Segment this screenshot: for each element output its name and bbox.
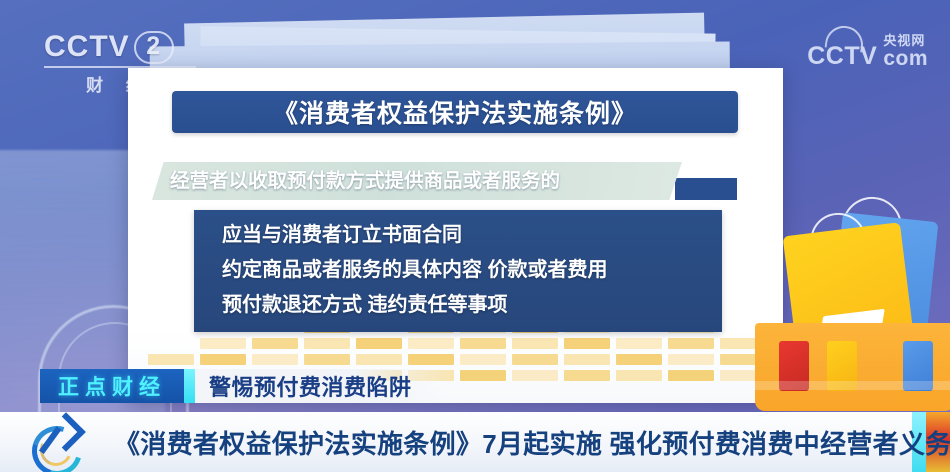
headline-text: 警惕预付费消费陷阱 bbox=[209, 370, 412, 402]
card-subtitle: 经营者以收取预付款方式提供商品或者服务的 bbox=[152, 162, 682, 200]
bar-pattern-block bbox=[304, 338, 350, 349]
bar-pattern-block bbox=[564, 338, 610, 349]
cctv-logo-mark: CCTV 2 bbox=[44, 30, 224, 64]
bar-pattern-block bbox=[512, 354, 558, 365]
bar-pattern-block bbox=[668, 370, 714, 381]
ticker-headline: 《消费者权益保护法实施条例》7月起实施 强化预付费消费中经营者义务 bbox=[114, 424, 950, 461]
card-title-banner: 《消费者权益保护法实施条例》 bbox=[172, 91, 738, 133]
bar-pattern-block bbox=[616, 338, 662, 349]
bar-pattern-block bbox=[408, 354, 454, 365]
watermark-cn-label: 央视网 bbox=[883, 34, 928, 48]
shopping-bags-graphic bbox=[765, 195, 950, 410]
subtitle-accent-tab bbox=[675, 178, 737, 200]
lower-third-banner: 正点财经 警惕预付费消费陷阱 bbox=[40, 369, 452, 403]
lower-third-cyan-divider bbox=[184, 369, 195, 403]
bar-pattern-block bbox=[460, 338, 506, 349]
bar-pattern-block bbox=[356, 354, 402, 365]
bar-pattern-block bbox=[460, 354, 506, 365]
card-subtitle-banner: 经营者以收取预付款方式提供商品或者服务的 bbox=[152, 162, 682, 200]
bar-pattern-block bbox=[304, 354, 350, 365]
bar-pattern-block bbox=[512, 370, 558, 381]
body-line-1: 应当与消费者订立书面合同 bbox=[222, 218, 722, 253]
bar-pattern-block bbox=[668, 338, 714, 349]
bar-pattern-block bbox=[252, 338, 298, 349]
program-name: 正点财经 bbox=[58, 371, 166, 401]
card-title: 《消费者权益保护法实施条例》 bbox=[273, 94, 637, 130]
bar-pattern-block bbox=[564, 370, 610, 381]
bar-pattern-block bbox=[460, 370, 506, 381]
cctv-finance-swoosh-icon bbox=[26, 416, 102, 468]
bar-pattern-block bbox=[356, 338, 402, 349]
watermark-com-label: com bbox=[883, 48, 928, 69]
bar-pattern-block bbox=[200, 338, 246, 349]
bar-pattern-block bbox=[668, 354, 714, 365]
cctv-com-watermark: CCTV 央视网 com bbox=[807, 34, 928, 69]
bar-pattern-block bbox=[252, 354, 298, 365]
bar-pattern-block bbox=[616, 370, 662, 381]
bar-pattern-block bbox=[512, 338, 558, 349]
cctv-wordmark: CCTV bbox=[44, 30, 130, 64]
bottom-ticker-bar: 《消费者权益保护法实施条例》7月起实施 强化预付费消费中经营者义务 bbox=[0, 412, 912, 472]
body-line-3: 预付款退还方式 违约责任等事项 bbox=[222, 288, 722, 323]
body-line-2: 约定商品或者服务的具体内容 价款或者费用 bbox=[222, 253, 722, 288]
bar-pattern-block bbox=[564, 354, 610, 365]
card-body-panel: 应当与消费者订立书面合同 约定商品或者服务的具体内容 价款或者费用 预付款退还方… bbox=[194, 210, 722, 332]
broadcast-screen: CCTV 2 财 经 CCTV 央视网 com 《消费者权益保护法实施条例》 经… bbox=[0, 0, 950, 472]
channel-number: 2 bbox=[134, 31, 174, 64]
shopping-basket-icon bbox=[755, 323, 950, 411]
bar-pattern-block bbox=[148, 354, 194, 365]
bar-pattern-block bbox=[408, 338, 454, 349]
bar-pattern-block bbox=[200, 354, 246, 365]
headline-box: 警惕预付费消费陷阱 bbox=[195, 369, 452, 403]
bar-pattern-column bbox=[616, 338, 662, 381]
bar-pattern-block bbox=[616, 354, 662, 365]
basket-rim bbox=[755, 381, 950, 390]
program-name-box: 正点财经 bbox=[40, 369, 184, 403]
